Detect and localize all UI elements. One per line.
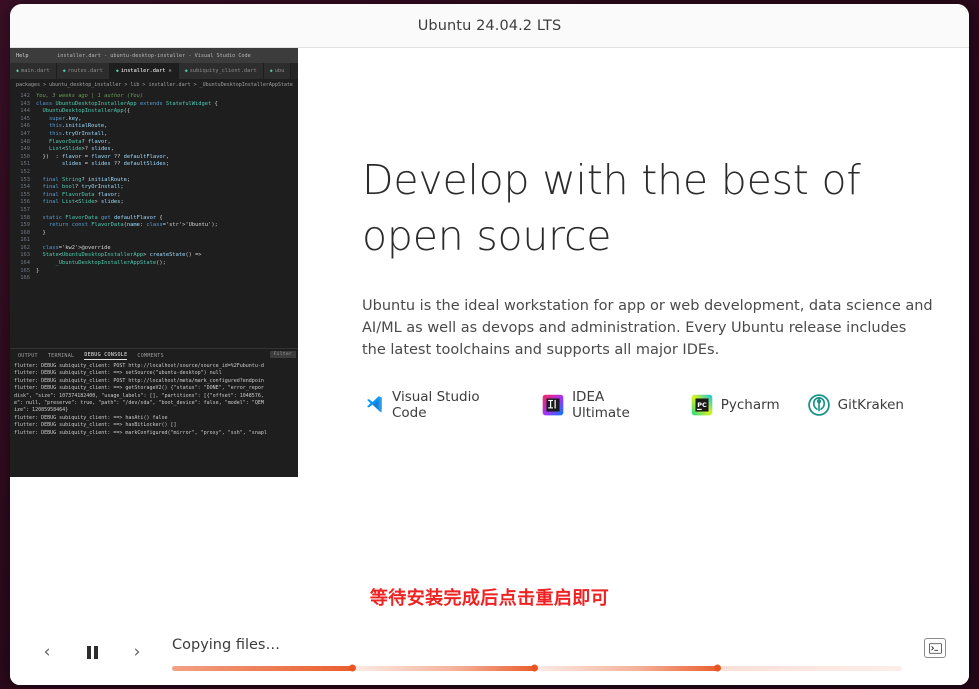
log-line: e": null, "preserve": true, "path": "/de…	[10, 400, 298, 407]
vscode-code-editor: 142 You, 3 weeks ago | 1 author (You) 14…	[10, 91, 298, 348]
panel-tab-debug-console: DEBUG CONSOLE	[84, 352, 127, 360]
slide-indicator-segment[interactable]	[172, 666, 355, 671]
svg-text:PC: PC	[697, 400, 707, 408]
pause-slideshow-button[interactable]	[75, 635, 109, 669]
bottom-toolbar: ‹ › Copying files…	[10, 617, 969, 685]
vscode-tab-label: subiquity_client.dart	[190, 68, 257, 74]
code-line: 147 this.tryOrInstall,	[10, 131, 298, 139]
panel-tab-comments: COMMENTS	[137, 353, 163, 359]
next-slide-button[interactable]: ›	[120, 635, 154, 669]
window-title: Ubuntu 24.04.2 LTS	[418, 18, 562, 34]
code-line: 166	[10, 275, 298, 283]
log-line: flutter: DEBUG subiquity_client: POST ht…	[10, 363, 298, 370]
log-line: flutter: DEBUG subiquity_client: ==> has…	[10, 415, 298, 422]
line-number: 161	[10, 237, 36, 245]
code-line: 153 final String? initialRoute;	[10, 177, 298, 185]
dart-file-icon: ◆	[270, 68, 273, 74]
line-number: 158	[10, 215, 36, 223]
install-status-text: Copying files…	[172, 637, 924, 653]
code-line: 142 You, 3 weeks ago | 1 author (You)	[10, 93, 298, 101]
code-text: return const FlavorData(name: class='str…	[36, 222, 211, 230]
code-text: }	[36, 230, 46, 238]
code-line: 163 State<UbuntuDesktopInstallerApp> cre…	[10, 252, 298, 260]
code-line: 165}	[10, 268, 298, 276]
line-number: 154	[10, 184, 36, 192]
code-line: 160 }	[10, 230, 298, 238]
log-line: flutter: DEBUG subiquity_client: ==> has…	[10, 422, 298, 429]
debug-console-log: flutter: DEBUG subiquity_client: POST ht…	[10, 363, 298, 437]
terminal-toggle-button[interactable]	[924, 638, 946, 658]
line-number: 165	[10, 268, 36, 276]
vscode-tab: ◆subiquity_client.dart	[179, 63, 264, 79]
log-line: ize": 12085958464}	[10, 407, 298, 414]
code-text: List<Slide>? slides,	[36, 146, 114, 154]
slide-indicator-segment[interactable]	[355, 666, 538, 671]
pycharm-icon: PC	[691, 394, 713, 416]
vscode-editor-tabs: ◆main.dart ◆routes.dart ◆installer.dart✕…	[10, 63, 298, 79]
dart-file-icon: ◆	[116, 68, 119, 74]
ide-logo-row: Visual Studio Code	[362, 389, 932, 421]
line-number: 163	[10, 252, 36, 260]
ide-item-idea-ultimate: IDEA Ultimate	[542, 389, 663, 421]
code-text: }	[36, 268, 39, 276]
vscode-screenshot-image: Help installer.dart - ubuntu-desktop-ins…	[10, 48, 298, 477]
vscode-bottom-panel: OUTPUT TERMINAL DEBUG CONSOLE COMMENTS F…	[10, 348, 298, 477]
code-line: 146 this.initialRoute,	[10, 123, 298, 131]
line-number: 157	[10, 207, 36, 215]
vscode-tab-active: ◆installer.dart✕	[110, 63, 179, 79]
ide-label: Visual Studio Code	[392, 389, 514, 421]
slide-content-area: Help installer.dart - ubuntu-desktop-ins…	[10, 48, 969, 685]
line-number: 156	[10, 199, 36, 207]
code-line: 152	[10, 169, 298, 177]
code-text: final bool? tryOrInstall;	[36, 184, 124, 192]
code-line: 156 final List<Slide> slides;	[10, 199, 298, 207]
ide-label: GitKraken	[838, 397, 904, 413]
code-line: 148 FlavorData? flavor,	[10, 139, 298, 147]
ide-label: Pycharm	[721, 397, 780, 413]
code-text: class UbuntuDesktopInstallerApp extends …	[36, 101, 218, 109]
vscode-window-title: installer.dart - ubuntu-desktop-installe…	[10, 53, 298, 59]
code-text: final List<Slide> slides;	[36, 199, 124, 207]
code-text: slides = slides ?? defaultSlides;	[36, 161, 169, 169]
vscode-breadcrumb: packages > ubuntu_desktop_installer > li…	[10, 79, 298, 91]
line-number: 162	[10, 245, 36, 253]
line-number: 153	[10, 177, 36, 185]
dart-file-icon: ◆	[63, 68, 66, 74]
line-number: 147	[10, 131, 36, 139]
code-text: class='kw2'>@override	[36, 245, 111, 253]
install-status-wrap: Copying files…	[172, 635, 924, 653]
line-number: 166	[10, 275, 36, 283]
code-body: 143class UbuntuDesktopInstallerApp exten…	[10, 101, 298, 283]
log-line: flutter: DEBUG subiquity_client: ==> mar…	[10, 430, 298, 437]
log-line: flutter: DEBUG subiquity_client: ==> set…	[10, 370, 298, 377]
code-line: 151 slides = slides ?? defaultSlides;	[10, 161, 298, 169]
slide-heading: Develop with the best of open source	[362, 153, 932, 265]
code-text: UbuntuDesktopInstallerApp({	[36, 108, 130, 116]
code-line: 154 final bool? tryOrInstall;	[10, 184, 298, 192]
code-line: 159 return const FlavorData(name: class=…	[10, 222, 298, 230]
line-number: 146	[10, 123, 36, 131]
vscode-tab-label: installer.dart	[121, 68, 166, 74]
code-line: 157	[10, 207, 298, 215]
line-number: 159	[10, 222, 36, 230]
panel-tab-terminal: TERMINAL	[48, 353, 74, 359]
intellij-idea-icon	[542, 394, 564, 416]
log-line: flutter: DEBUG subiquity_client: ==> get…	[10, 385, 298, 392]
code-line: 150 }) : flavor = flavor ?? defaultFlavo…	[10, 154, 298, 162]
code-text: State<UbuntuDesktopInstallerApp> createS…	[36, 252, 202, 260]
slide-text-block: Develop with the best of open source Ubu…	[362, 153, 932, 421]
gitkraken-icon	[808, 394, 830, 416]
code-line: 144 UbuntuDesktopInstallerApp({	[10, 108, 298, 116]
previous-slide-button[interactable]: ‹	[30, 635, 64, 669]
code-text: this.initialRoute,	[36, 123, 107, 131]
line-number: 142	[10, 93, 36, 101]
line-number: 145	[10, 116, 36, 124]
line-number: 144	[10, 108, 36, 116]
vscode-panel-tabs: OUTPUT TERMINAL DEBUG CONSOLE COMMENTS F…	[10, 349, 298, 363]
dart-file-icon: ◆	[16, 68, 19, 74]
code-line: 161	[10, 237, 298, 245]
code-text: _UbuntuDesktopInstallerAppState();	[36, 260, 166, 268]
terminal-icon	[929, 643, 942, 654]
vscode-tab-label: routes.dart	[68, 68, 103, 74]
code-text: }) : flavor = flavor ?? defaultFlavor,	[36, 154, 169, 162]
vscode-tab: ◆main.dart	[10, 63, 57, 79]
titlebar: Ubuntu 24.04.2 LTS	[10, 4, 969, 48]
ide-item-gitkraken: GitKraken	[808, 394, 904, 416]
code-line: 158 static FlavorData get defaultFlavor …	[10, 215, 298, 223]
vscode-tab: ◆routes.dart	[57, 63, 110, 79]
code-line: 164 _UbuntuDesktopInstallerAppState();	[10, 260, 298, 268]
code-text: static FlavorData get defaultFlavor {	[36, 215, 163, 223]
code-text: this.tryOrInstall,	[36, 131, 107, 139]
line-number: 155	[10, 192, 36, 200]
code-line: 143class UbuntuDesktopInstallerApp exten…	[10, 101, 298, 109]
pause-icon	[87, 646, 98, 659]
log-line: flutter: DEBUG subiquity_client: POST ht…	[10, 378, 298, 385]
code-line: 155 final FlavorData flavor;	[10, 192, 298, 200]
line-number: 149	[10, 146, 36, 154]
ide-item-pycharm: PC Pycharm	[691, 394, 780, 416]
restart-notice: 等待安装完成后点击重启即可	[10, 584, 969, 610]
ide-item-visual-studio-code: Visual Studio Code	[362, 389, 514, 421]
git-blame-note: You, 3 weeks ago | 1 author (You)	[36, 93, 143, 101]
code-text: FlavorData? flavor,	[36, 139, 111, 147]
code-text: final String? initialRoute;	[36, 177, 130, 185]
panel-filter-input: Filter	[270, 351, 296, 358]
ide-label: IDEA Ultimate	[572, 389, 663, 421]
slide-body-text: Ubuntu is the ideal workstation for app …	[362, 295, 934, 361]
code-line: 162 class='kw2'>@override	[10, 245, 298, 253]
line-number: 148	[10, 139, 36, 147]
code-text: final FlavorData flavor;	[36, 192, 120, 200]
line-number: 164	[10, 260, 36, 268]
vscode-tab-label: ubu	[275, 68, 285, 74]
line-number: 152	[10, 169, 36, 177]
slide-indicator-segment[interactable]	[720, 666, 903, 671]
slide-progress-indicator[interactable]	[172, 665, 902, 671]
slide-indicator-segment[interactable]	[537, 666, 720, 671]
dart-file-icon: ◆	[185, 68, 188, 74]
code-line: 145 super.key,	[10, 116, 298, 124]
line-number: 151	[10, 161, 36, 169]
code-text: super.key,	[36, 116, 81, 124]
line-number: 160	[10, 230, 36, 238]
installer-window: Ubuntu 24.04.2 LTS Help installer.dart -…	[10, 4, 969, 685]
line-number: 150	[10, 154, 36, 162]
vscode-menubar: Help installer.dart - ubuntu-desktop-ins…	[10, 48, 298, 63]
vscode-tab-label: main.dart	[21, 68, 50, 74]
close-icon: ✕	[169, 68, 172, 74]
panel-tab-output: OUTPUT	[18, 353, 38, 359]
code-line: 149 List<Slide>? slides,	[10, 146, 298, 154]
line-number: 143	[10, 101, 36, 109]
vscode-icon	[362, 394, 384, 416]
vscode-tab: ◆ubu	[264, 63, 292, 79]
log-line: disk", "size": 107374182400, "usage_labe…	[10, 393, 298, 400]
